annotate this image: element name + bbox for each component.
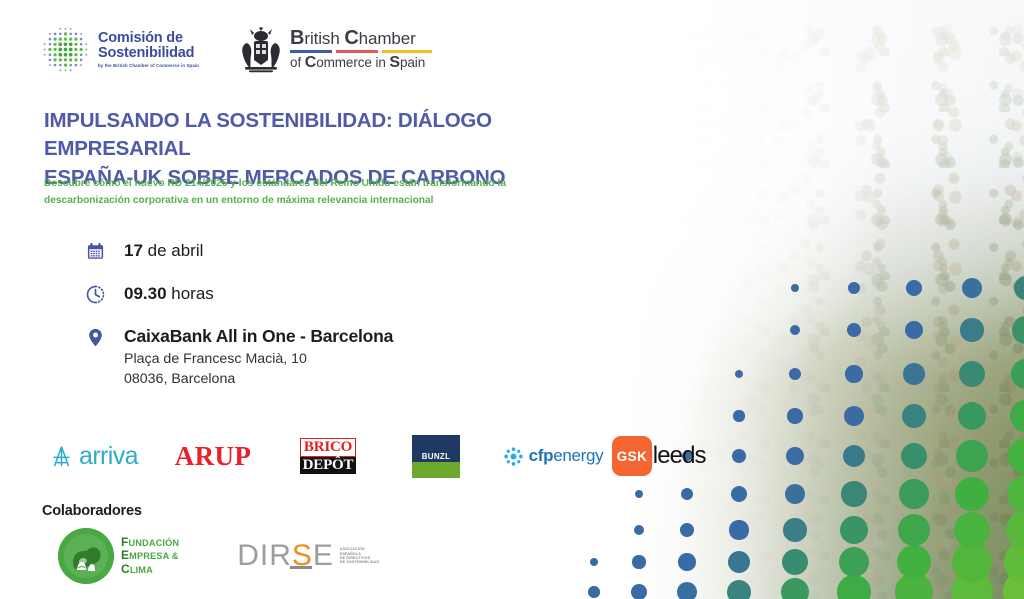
subheadline-line-2: descarbonización corporativa en un entor… [44, 193, 564, 210]
collaborators-title: Colaboradores [42, 503, 142, 519]
dot-grid-mandala-icon [42, 26, 89, 73]
event-subheadline: Descubre cómo el nuevo RD 214/2025 y los… [44, 176, 564, 209]
fec-wordmark: FUNDACIÓN EMPRESA & CLIMA [121, 536, 179, 576]
comision-logo-text: Comisión de Sostenibilidad by the Britis… [98, 31, 199, 68]
sponsor-brico-depot: BRICO DEPÔT [272, 430, 384, 482]
venue-name: CaixaBank All in One - Barcelona [124, 326, 393, 347]
fec-line-1: FUNDACIÓN [121, 536, 179, 549]
bunzl-wordmark: BUNZL [412, 451, 460, 462]
detail-date-text: 17 de abril [124, 240, 203, 262]
sponsor-arriva: arriva [34, 430, 154, 482]
bunzl-mark: BUNZL [412, 435, 460, 478]
map-pin-icon [84, 326, 106, 347]
header-logos: Comisión de Sostenibilidad by the Britis… [42, 26, 432, 73]
subheadline-line-1: Descubre cómo el nuevo RD 214/2025 y los… [44, 176, 564, 193]
british-chamber-line1: British Chamber [290, 28, 432, 48]
comision-line2: Sostenibilidad [98, 46, 199, 61]
sponsor-cfp-energy: cfpenergy [488, 430, 618, 482]
brico-depot-mark: BRICO DEPÔT [300, 438, 356, 475]
venue-postal: 08036, Barcelona [124, 369, 393, 389]
collaborator-fundacion-empresa-clima: FUNDACIÓN EMPRESA & CLIMA [58, 528, 179, 584]
fec-line-3: CLIMA [121, 563, 179, 576]
time-value: 09.30 [124, 284, 167, 303]
event-poster: Comisión de Sostenibilidad by the Britis… [0, 0, 1024, 599]
date-value: 17 [124, 241, 143, 260]
detail-time-text: 09.30 horas [124, 283, 214, 305]
detail-row-time: 09.30 horas [84, 283, 393, 305]
fec-circle-icon [58, 528, 114, 584]
venue-address: Plaça de Francesc Macià, 10 08036, Barce… [124, 349, 393, 389]
cfp-energy-mark-icon [503, 446, 524, 467]
dirse-wordmark: DIRSE [237, 539, 334, 573]
arriva-mark-icon [50, 445, 73, 468]
sponsor-bunzl: BUNZL [384, 430, 488, 482]
royal-coat-of-arms-icon [239, 27, 283, 73]
collaborator-logos: FUNDACIÓN EMPRESA & CLIMA DIRSE ASOCIACI… [58, 528, 379, 584]
comision-line1: Comisión de [98, 31, 199, 46]
arup-wordmark: ARUP [175, 441, 252, 472]
event-details: 17 de abril 09.30 horas [84, 240, 393, 389]
sponsor-gsk: GSK [612, 430, 664, 482]
fec-line-2: EMPRESA & [121, 549, 179, 562]
bunzl-green-bar [412, 462, 460, 478]
clock-icon [84, 283, 106, 304]
arriva-wordmark: arriva [79, 442, 138, 471]
british-chamber-line2: of Commerce in Spain [290, 55, 432, 71]
dirse-subtitle: ASOCIACIÓN ESPAÑOLA DE DIRECTIVOS DE SOS… [340, 547, 379, 565]
detail-row-venue: CaixaBank All in One - Barcelona Plaça d… [84, 326, 393, 389]
comision-sostenibilidad-logo: Comisión de Sostenibilidad by the Britis… [42, 26, 199, 73]
brico-label-top: BRICO [300, 438, 356, 457]
british-chamber-text: British Chamber of Commerce in Spain [290, 28, 432, 71]
bunzl-navy-bar [412, 435, 460, 451]
sponsor-arup: ARUP [154, 430, 272, 482]
content-column: Comisión de Sostenibilidad by the Britis… [0, 0, 660, 599]
time-suffix: horas [167, 284, 214, 303]
calendar-icon [84, 240, 106, 261]
british-chamber-color-bars [290, 50, 432, 53]
dirse-sub-4: DE SOSTENIBILIDAD [340, 560, 379, 564]
cfp-energy-wordmark: cfpenergy [529, 446, 604, 466]
headline-line-1: IMPULSANDO LA SOSTENIBILIDAD: DIÁLOGO EM… [44, 107, 624, 164]
date-suffix: de abril [143, 241, 203, 260]
detail-row-date: 17 de abril [84, 240, 393, 262]
collaborator-dirse: DIRSE ASOCIACIÓN ESPAÑOLA DE DIRECTIVOS … [237, 539, 379, 573]
british-chamber-logo: British Chamber of Commerce in Spain [239, 27, 432, 73]
venue-street: Plaça de Francesc Macià, 10 [124, 349, 393, 369]
detail-venue-text: CaixaBank All in One - Barcelona Plaça d… [124, 326, 393, 389]
dirse-underline [290, 566, 312, 569]
brico-label-bottom: DEPÔT [300, 457, 356, 475]
gsk-wordmark: GSK [612, 436, 652, 476]
comision-subtitle: by the British Chamber of Commerce in Sp… [98, 64, 199, 68]
